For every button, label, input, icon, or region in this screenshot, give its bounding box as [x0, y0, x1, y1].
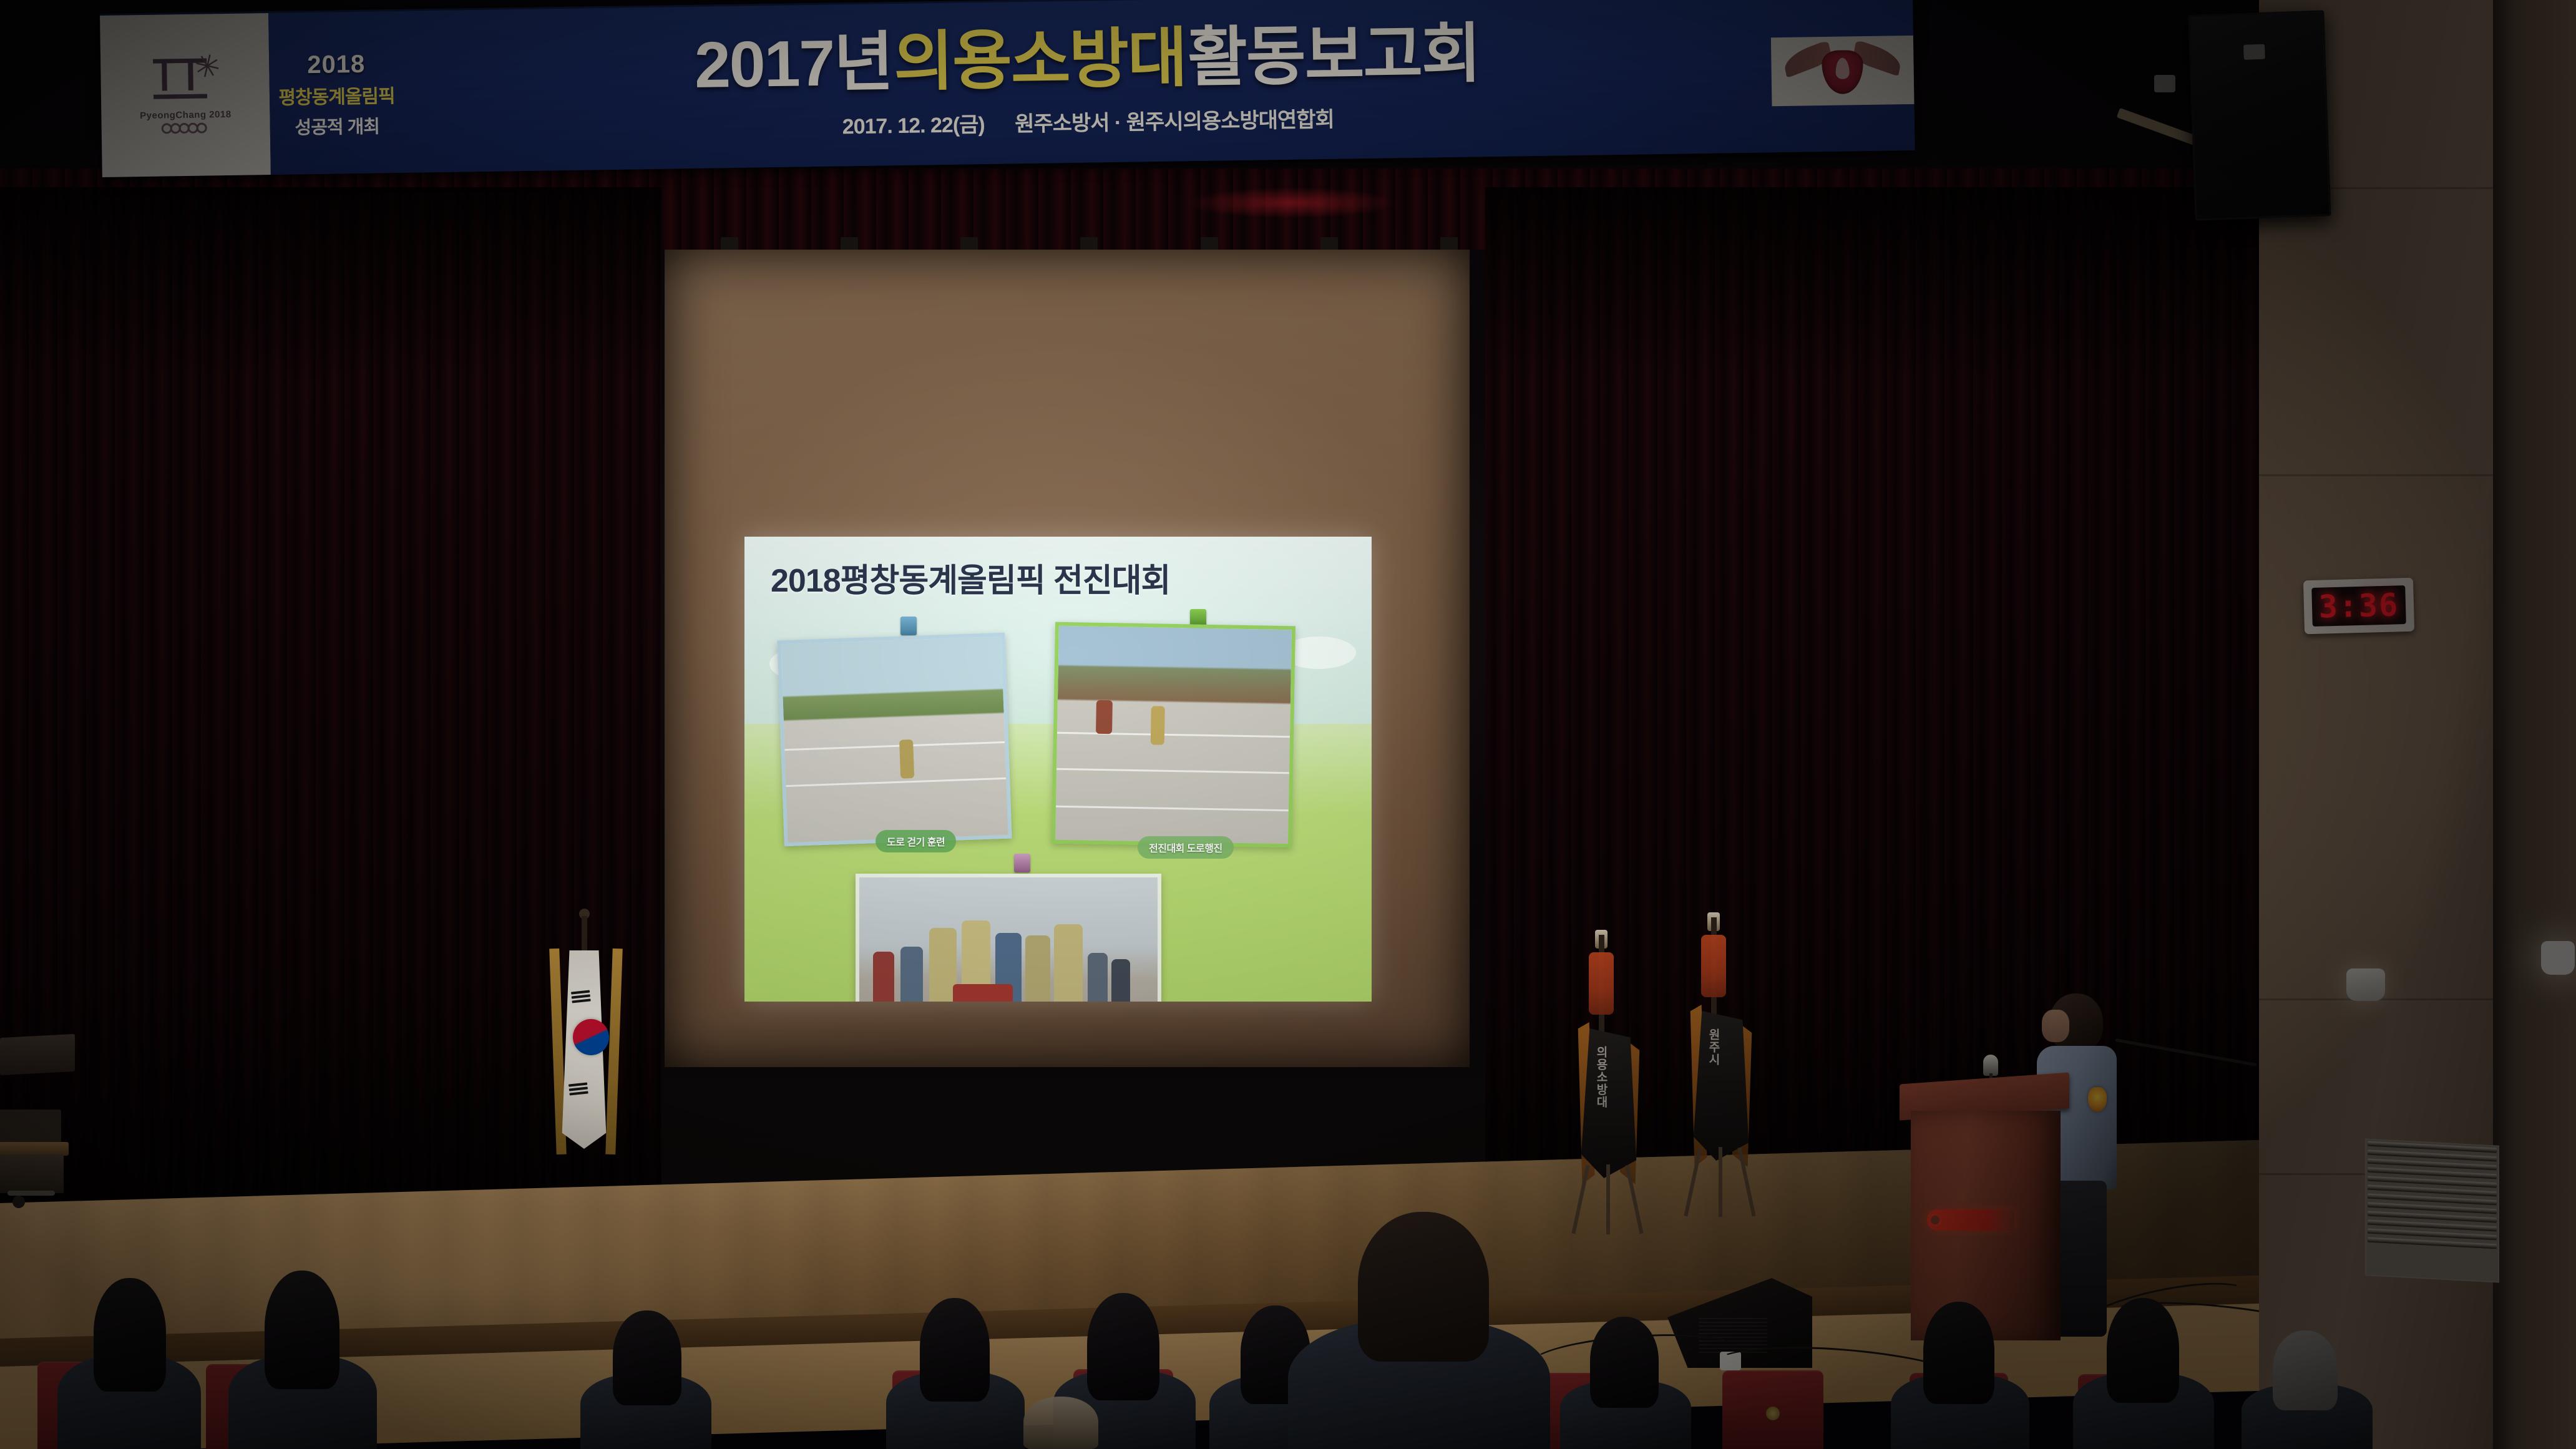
- audience-head: [265, 1271, 339, 1389]
- slide-pin: [1014, 854, 1030, 872]
- digital-wall-clock: 3:36: [2303, 578, 2414, 635]
- trigram-icon: [568, 1082, 588, 1097]
- ceremonial-banner-flag-right: 원주시: [1672, 917, 1766, 1211]
- photo-marching-road: [777, 633, 1012, 847]
- audience-head: [920, 1298, 990, 1402]
- photo-caption: 전진대회 도로행진: [1138, 836, 1234, 859]
- flag-pole: [582, 916, 587, 956]
- banner-date: 2017. 12. 22(금): [842, 113, 985, 139]
- event-banner: ✳ PyeongChang 2018 2018 평창동계올림픽 성공적 개최 2…: [100, 0, 1915, 177]
- valance-red-glow: [1186, 187, 1398, 218]
- banner-subtitle: 2017. 12. 22(금) 원주소방서 · 원주시의용소방대연합회: [842, 102, 1334, 140]
- clock-time: 3:36: [2318, 587, 2399, 625]
- banner-main-panel: 2018 평창동계올림픽 성공적 개최 2017년 의용소방대 활동보고회 20…: [268, 0, 1915, 175]
- banner-title-part-2: 의용소방대: [894, 22, 1187, 99]
- audience-front-rows: [0, 1286, 2576, 1449]
- trigram-icon: [571, 990, 591, 1005]
- photo-group-firefighters: [856, 874, 1161, 1002]
- banner-title: 2017년 의용소방대 활동보고회: [694, 21, 1480, 98]
- audience-head: [2107, 1298, 2179, 1403]
- pyeongchang-2018-logo: ✳ PyeongChang 2018: [100, 13, 271, 177]
- projection-screen: 2018평창동계올림픽 전진대회: [665, 243, 1504, 1073]
- flag-tripod-stand: [1566, 1159, 1647, 1234]
- photo-content: [781, 637, 1008, 842]
- audience-head: [613, 1310, 681, 1405]
- flag-tassel: [1589, 952, 1614, 1015]
- banner-title-part-1: 2017년: [694, 26, 893, 102]
- banner-year-column: 2018 평창동계올림픽 성공적 개최: [269, 46, 404, 140]
- flag-gold-fringe: [605, 949, 623, 1154]
- taeguk-circle-icon: [573, 1019, 609, 1055]
- slide-title: 2018평창동계올림픽 전진대회: [771, 554, 1170, 601]
- speaker-brand-badge: [2243, 44, 2265, 60]
- audience-head: [94, 1278, 166, 1392]
- banner-year: 2018: [307, 51, 366, 79]
- pyeongchang-wordmark: PyeongChang 2018: [140, 109, 232, 120]
- photo-caption: 도로 걷기 훈련: [876, 830, 956, 852]
- audience-head: [1358, 1212, 1489, 1362]
- korea-fire-service-emblem-icon: [1783, 36, 1903, 106]
- banner-title-column: 2017년 의용소방대 활동보고회 2017. 12. 22(금) 원주소방서 …: [403, 17, 1772, 146]
- flag-inscription: 의용소방대: [1594, 1046, 1608, 1108]
- fire-service-emblem-panel: [1771, 35, 1915, 105]
- auditorium-seat[interactable]: [1722, 1370, 1823, 1449]
- audience-head: [1923, 1302, 1994, 1404]
- photo-street-parade: [1051, 622, 1295, 848]
- audience-head: [2273, 1330, 2338, 1410]
- flag-tripod-stand: [1679, 1142, 1760, 1217]
- ceiling-pa-speaker: [2188, 10, 2331, 220]
- wall-light-fixture: [2346, 968, 2385, 1001]
- audience-head: [1087, 1293, 1159, 1400]
- flag-tassel: [1701, 935, 1726, 997]
- banner-olympic-line: 평창동계올림픽: [278, 80, 395, 110]
- banner-success-line: 성공적 개최: [295, 112, 379, 139]
- stage-chair: [0, 1117, 74, 1229]
- microphone-head-icon: [1983, 1055, 1998, 1076]
- wall-light-fixture: [2541, 941, 2575, 975]
- south-korea-taegukgi-flag: [549, 916, 624, 1209]
- photo-content: [1055, 626, 1292, 844]
- hvac-vent-grille: [2365, 1138, 2499, 1282]
- presentation-slide: 2018평창동계올림픽 전진대회: [744, 537, 1372, 1002]
- olympic-rings-icon: [165, 122, 207, 134]
- auditorium-scene: ✳ PyeongChang 2018 2018 평창동계올림픽 성공적 개최 2…: [0, 0, 2576, 1449]
- photo-content: [859, 877, 1158, 1002]
- banner-title-part-3: 활동보고회: [1187, 17, 1480, 94]
- ceremonial-banner-flag-left: 의용소방대: [1560, 935, 1654, 1228]
- podium-red-swoosh-icon: [1927, 1209, 2014, 1231]
- audience-head: [1590, 1317, 1659, 1408]
- presenter-face: [2042, 1010, 2069, 1042]
- wall-column: [2493, 0, 2576, 1449]
- banner-organizers: 원주소방서 · 원주시의용소방대연합회: [1015, 108, 1334, 137]
- flag-inscription: 원주시: [1706, 1028, 1720, 1066]
- slide-pin: [900, 617, 917, 635]
- audience-fur-collar: [1023, 1397, 1098, 1449]
- pyeongchang-mark-icon: ✳: [148, 57, 222, 107]
- snowflake-star-icon: ✳: [187, 49, 226, 87]
- screen-surface: 2018평창동계올림픽 전진대회: [665, 250, 1470, 1067]
- ceiling-light-fixture: [2154, 75, 2175, 92]
- side-table: [0, 1034, 75, 1075]
- uniform-shoulder-patch-icon: [2088, 1087, 2107, 1112]
- clock-display-face: 3:36: [2311, 585, 2406, 627]
